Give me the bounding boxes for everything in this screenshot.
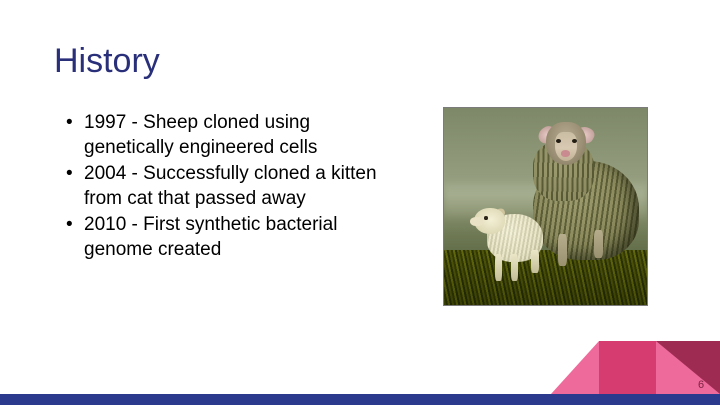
ewe-face (555, 132, 577, 162)
ewe-nose (561, 150, 570, 156)
ewe-eye (572, 139, 577, 143)
decoration-triangle-left (551, 341, 599, 394)
list-item: • 1997 - Sheep cloned using genetically … (62, 110, 392, 160)
decoration-rect-middle (599, 341, 656, 394)
ewe-eye (556, 139, 561, 143)
bottom-accent-bar (0, 394, 720, 405)
list-item-text: 1997 - Sheep cloned using genetically en… (84, 112, 317, 158)
bullet-dot-icon: • (66, 212, 73, 237)
photo-grass-foreground (444, 250, 647, 305)
bullet-list: • 1997 - Sheep cloned using genetically … (62, 110, 392, 263)
lamb-leg (511, 254, 518, 282)
bullet-dot-icon: • (66, 110, 73, 135)
lamb-leg (495, 254, 502, 282)
page-title: History (54, 41, 160, 81)
presentation-slide: History • 1997 - Sheep cloned using gene… (0, 0, 720, 405)
list-item-text: 2004 - Successfully cloned a kitten from… (84, 163, 377, 209)
bullet-dot-icon: • (66, 161, 73, 186)
ewe-leg (558, 234, 567, 266)
cloned-sheep-photo (443, 107, 648, 306)
slide-number: 6 (694, 378, 708, 392)
lamb-snout (470, 217, 482, 226)
ewe-leg (594, 230, 603, 258)
lamb-leg (531, 250, 538, 274)
list-item-text: 2010 - First synthetic bacterial genome … (84, 214, 337, 260)
list-item: • 2010 - First synthetic bacterial genom… (62, 212, 392, 262)
list-item: • 2004 - Successfully cloned a kitten fr… (62, 161, 392, 211)
